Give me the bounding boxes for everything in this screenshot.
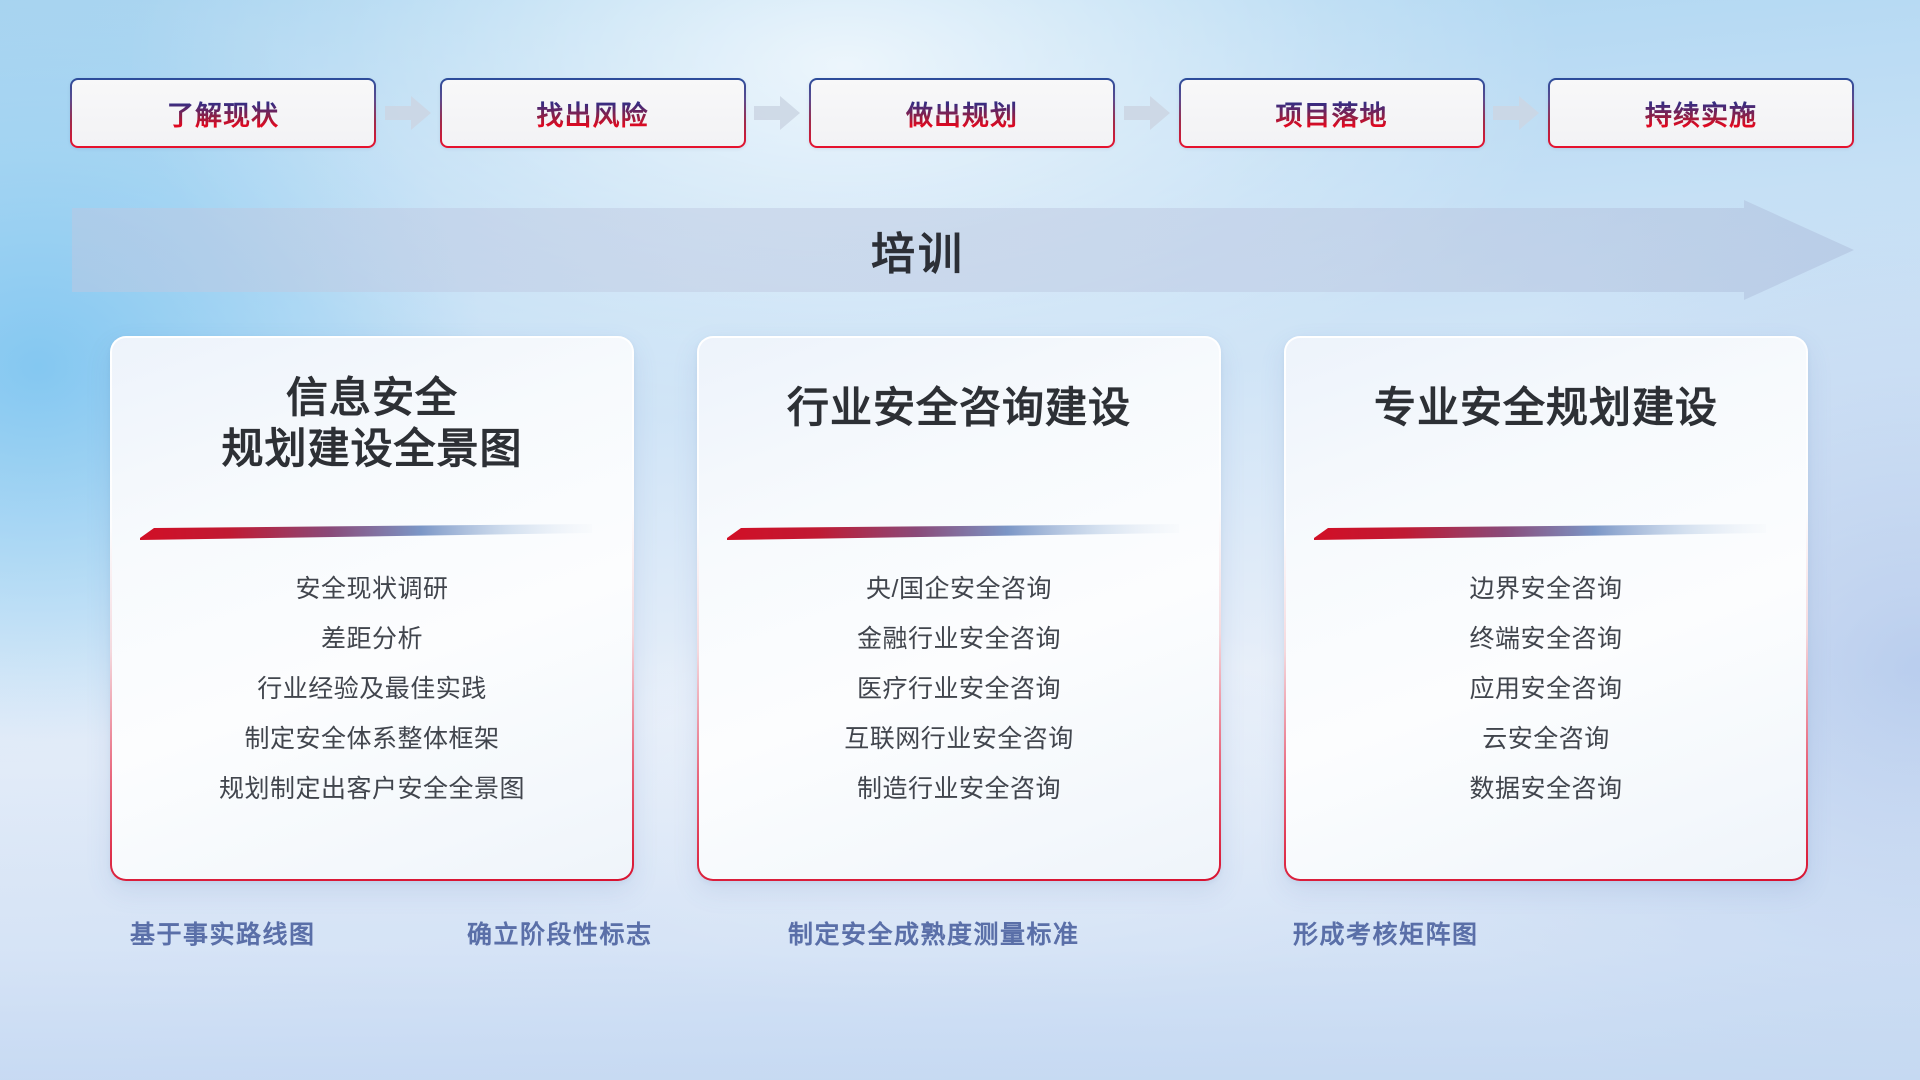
arrow-right-icon [376, 96, 440, 130]
caption-roadmap: 基于事实路线图 [130, 915, 316, 951]
process-step-4[interactable]: 项目落地 [1179, 78, 1485, 148]
caption-milestone: 确立阶段性标志 [467, 915, 653, 951]
list-item: 规划制定出客户安全全景图 [219, 764, 525, 814]
card-divider [727, 524, 1179, 540]
process-step-2[interactable]: 找出风险 [440, 78, 746, 148]
list-item: 云安全咨询 [1482, 714, 1610, 764]
card-information-security-panorama[interactable]: 信息安全 规划建设全景图 安全现状调研 差距分析 行 [110, 336, 634, 881]
list-item: 制定安全体系整体框架 [244, 714, 499, 764]
process-step-5[interactable]: 持续实施 [1548, 78, 1854, 148]
caption-maturity: 制定安全成熟度测量标准 [788, 915, 1080, 951]
process-step-label: 项目落地 [1276, 94, 1388, 133]
process-step-label: 了解现状 [167, 94, 279, 133]
list-item: 安全现状调研 [295, 564, 448, 614]
process-step-label: 做出规划 [906, 94, 1018, 133]
card-professional-security-planning[interactable]: 专业安全规划建设 边界安全咨询 终端安全咨询 应用安 [1284, 336, 1808, 881]
card-item-list: 安全现状调研 差距分析 行业经验及最佳实践 制定安全体系整体框架 规划制定出客户… [112, 564, 632, 814]
card-item-list: 央/国企安全咨询 金融行业安全咨询 医疗行业安全咨询 互联网行业安全咨询 制造行… [699, 564, 1219, 814]
list-item: 差距分析 [321, 614, 423, 664]
caption-matrix: 形成考核矩阵图 [1293, 915, 1479, 951]
card-item-list: 边界安全咨询 终端安全咨询 应用安全咨询 云安全咨询 数据安全咨询 [1286, 564, 1806, 814]
list-item: 应用安全咨询 [1469, 664, 1622, 714]
process-step-row: 了解现状 找出风险 做出规划 项目落地 持续实施 [70, 78, 1854, 148]
card-title: 信息安全 规划建设全景图 [221, 372, 522, 474]
card-row: 信息安全 规划建设全景图 安全现状调研 差距分析 行 [110, 336, 1810, 881]
list-item: 边界安全咨询 [1469, 564, 1622, 614]
card-title: 行业安全咨询建设 [787, 382, 1131, 433]
card-divider [1314, 524, 1766, 540]
caption-row: 基于事实路线图 确立阶段性标志 制定安全成熟度测量标准 形成考核矩阵图 [0, 915, 1920, 965]
training-band-label: 培训 [72, 200, 1764, 300]
list-item: 终端安全咨询 [1469, 614, 1622, 664]
arrow-right-icon [1485, 96, 1549, 130]
arrow-right-icon [1115, 96, 1179, 130]
card-title: 专业安全规划建设 [1374, 382, 1718, 433]
card-industry-security-consulting[interactable]: 行业安全咨询建设 央/国企安全咨询 金融行业安全咨询 [697, 336, 1221, 881]
process-step-1[interactable]: 了解现状 [70, 78, 376, 148]
process-step-3[interactable]: 做出规划 [809, 78, 1115, 148]
list-item: 央/国企安全咨询 [866, 564, 1052, 614]
list-item: 金融行业安全咨询 [857, 614, 1061, 664]
list-item: 医疗行业安全咨询 [857, 664, 1061, 714]
list-item: 互联网行业安全咨询 [844, 714, 1074, 764]
list-item: 制造行业安全咨询 [857, 764, 1061, 814]
list-item: 行业经验及最佳实践 [257, 664, 487, 714]
process-step-label: 持续实施 [1645, 94, 1757, 133]
list-item: 数据安全咨询 [1469, 764, 1622, 814]
process-step-label: 找出风险 [537, 94, 649, 133]
training-band: 培训 [72, 200, 1854, 300]
card-divider [140, 524, 592, 540]
arrow-right-icon [746, 96, 810, 130]
